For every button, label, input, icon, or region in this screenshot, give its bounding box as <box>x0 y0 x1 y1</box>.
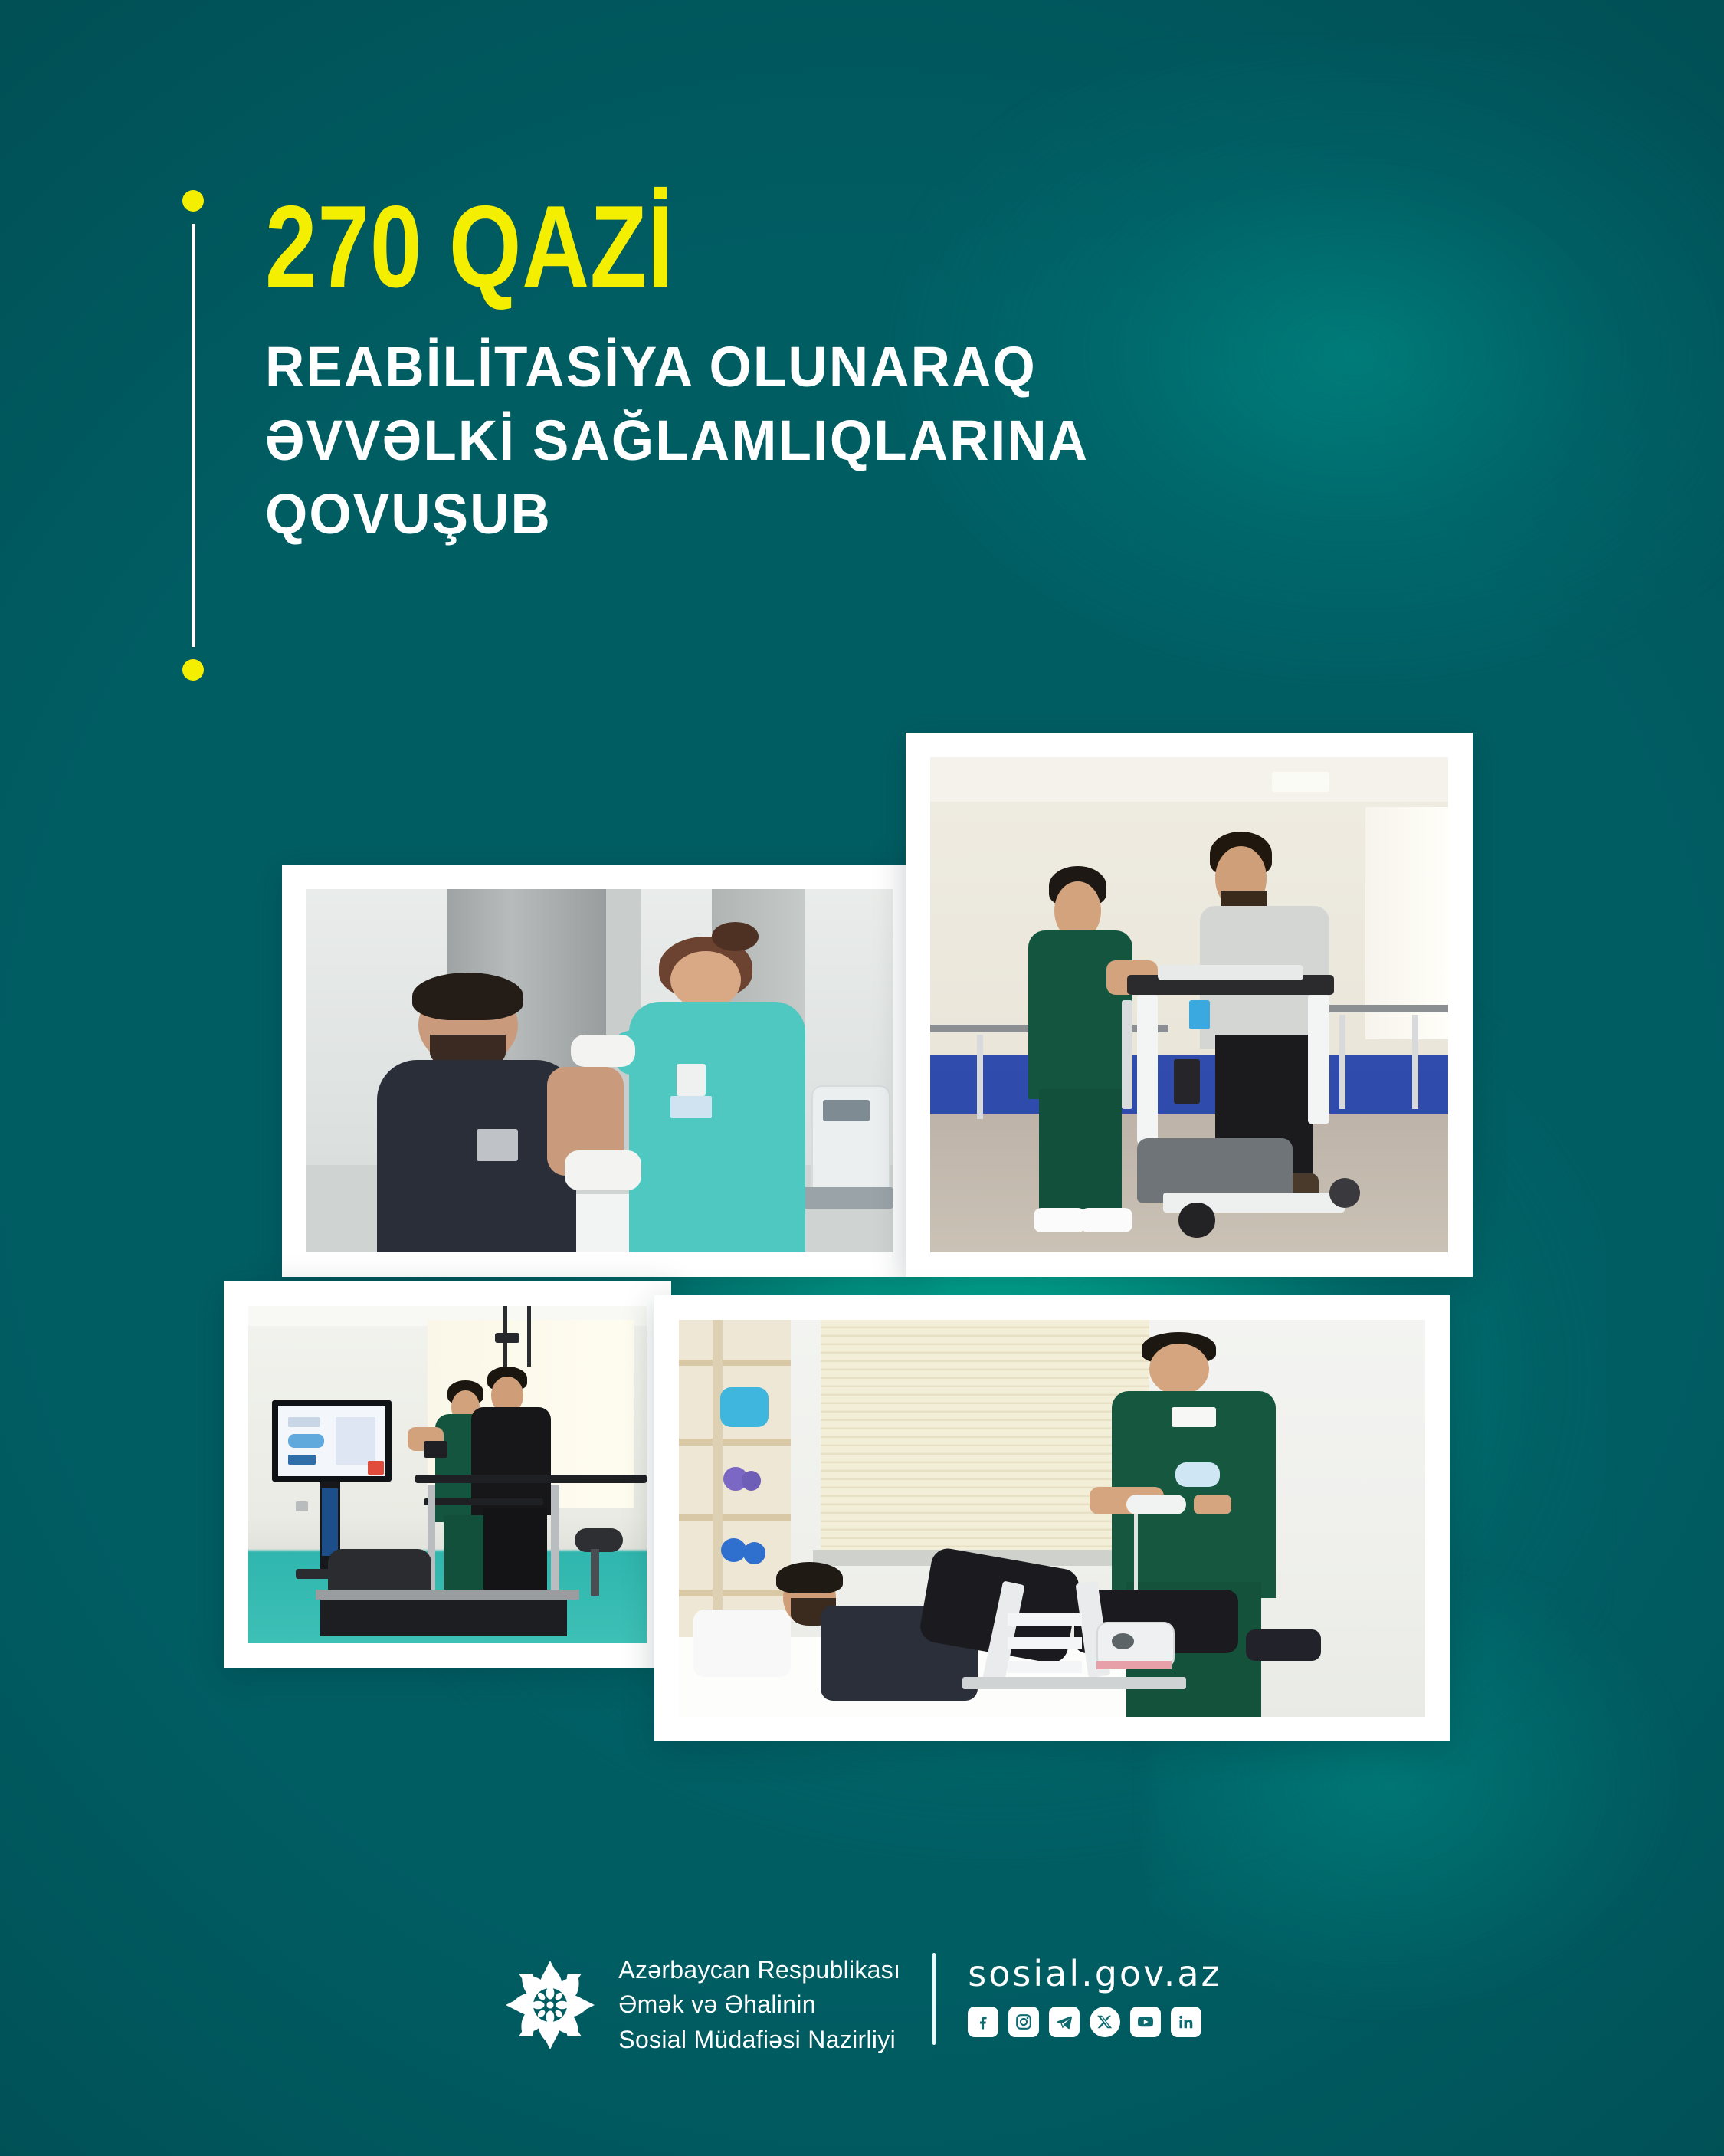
telegram-icon[interactable] <box>1049 2007 1080 2037</box>
white-rule-divider <box>192 224 195 647</box>
footer-divider <box>932 1953 936 2045</box>
photo-image-injection <box>306 889 893 1252</box>
linkedin-icon[interactable] <box>1171 2007 1201 2037</box>
headline-accent-rail <box>182 190 204 681</box>
website-url[interactable]: sosial.gov.az <box>968 1953 1221 1994</box>
ministry-name: Azərbaycan Respublikası Əmək və Əhalinin… <box>618 1953 900 2057</box>
headline-block: 270 QAZİ REABİLİTASİYA OLUNARAQ ƏVVƏLKİ … <box>182 190 1523 552</box>
ministry-name-line-1: Azərbaycan Respublikası <box>618 1953 900 1987</box>
photo-image-treadmill-gait <box>248 1306 647 1643</box>
x-twitter-icon[interactable] <box>1090 2007 1120 2037</box>
ministry-name-line-3: Sosial Müdafiəsi Nazirliyi <box>618 2023 900 2057</box>
instagram-icon[interactable] <box>1008 2007 1039 2037</box>
collage-photo-standing-trainer <box>906 733 1473 1277</box>
headline-subtitle-line-3: QOVUŞUB <box>265 477 1473 551</box>
collage-photo-injection <box>282 865 918 1277</box>
collage-photo-cpm-device <box>654 1295 1450 1741</box>
facebook-icon[interactable] <box>968 2007 998 2037</box>
yellow-dot-top-icon <box>182 190 204 212</box>
headline-subtitle-line-2: ƏVVƏLKİ SAĞLAMLIQLARINA <box>265 404 1473 477</box>
collage-photo-treadmill-gait <box>224 1281 671 1668</box>
social-links <box>968 2007 1221 2037</box>
headline-subtitle-line-1: REABİLİTASİYA OLUNARAQ <box>265 330 1473 404</box>
yellow-dot-bottom-icon <box>182 659 204 681</box>
headline-kicker: 270 QAZİ <box>265 190 1272 304</box>
photo-image-standing-trainer <box>930 757 1448 1252</box>
youtube-icon[interactable] <box>1130 2007 1161 2037</box>
headline-subtitle: REABİLİTASİYA OLUNARAQ ƏVVƏLKİ SAĞLAMLIQ… <box>265 330 1473 552</box>
photo-image-cpm-device <box>679 1320 1425 1717</box>
brand-lockup: Azərbaycan Respublikası Əmək və Əhalinin… <box>502 1953 900 2057</box>
web-block: sosial.gov.az <box>968 1953 1221 2037</box>
poster-canvas: 270 QAZİ REABİLİTASİYA OLUNARAQ ƏVVƏLKİ … <box>0 0 1724 2156</box>
footer: Azərbaycan Respublikası Əmək və Əhalinin… <box>0 1953 1724 2106</box>
ministry-star-emblem-icon <box>502 1957 598 2053</box>
ministry-name-line-2: Əmək və Əhalinin <box>618 1987 900 2022</box>
